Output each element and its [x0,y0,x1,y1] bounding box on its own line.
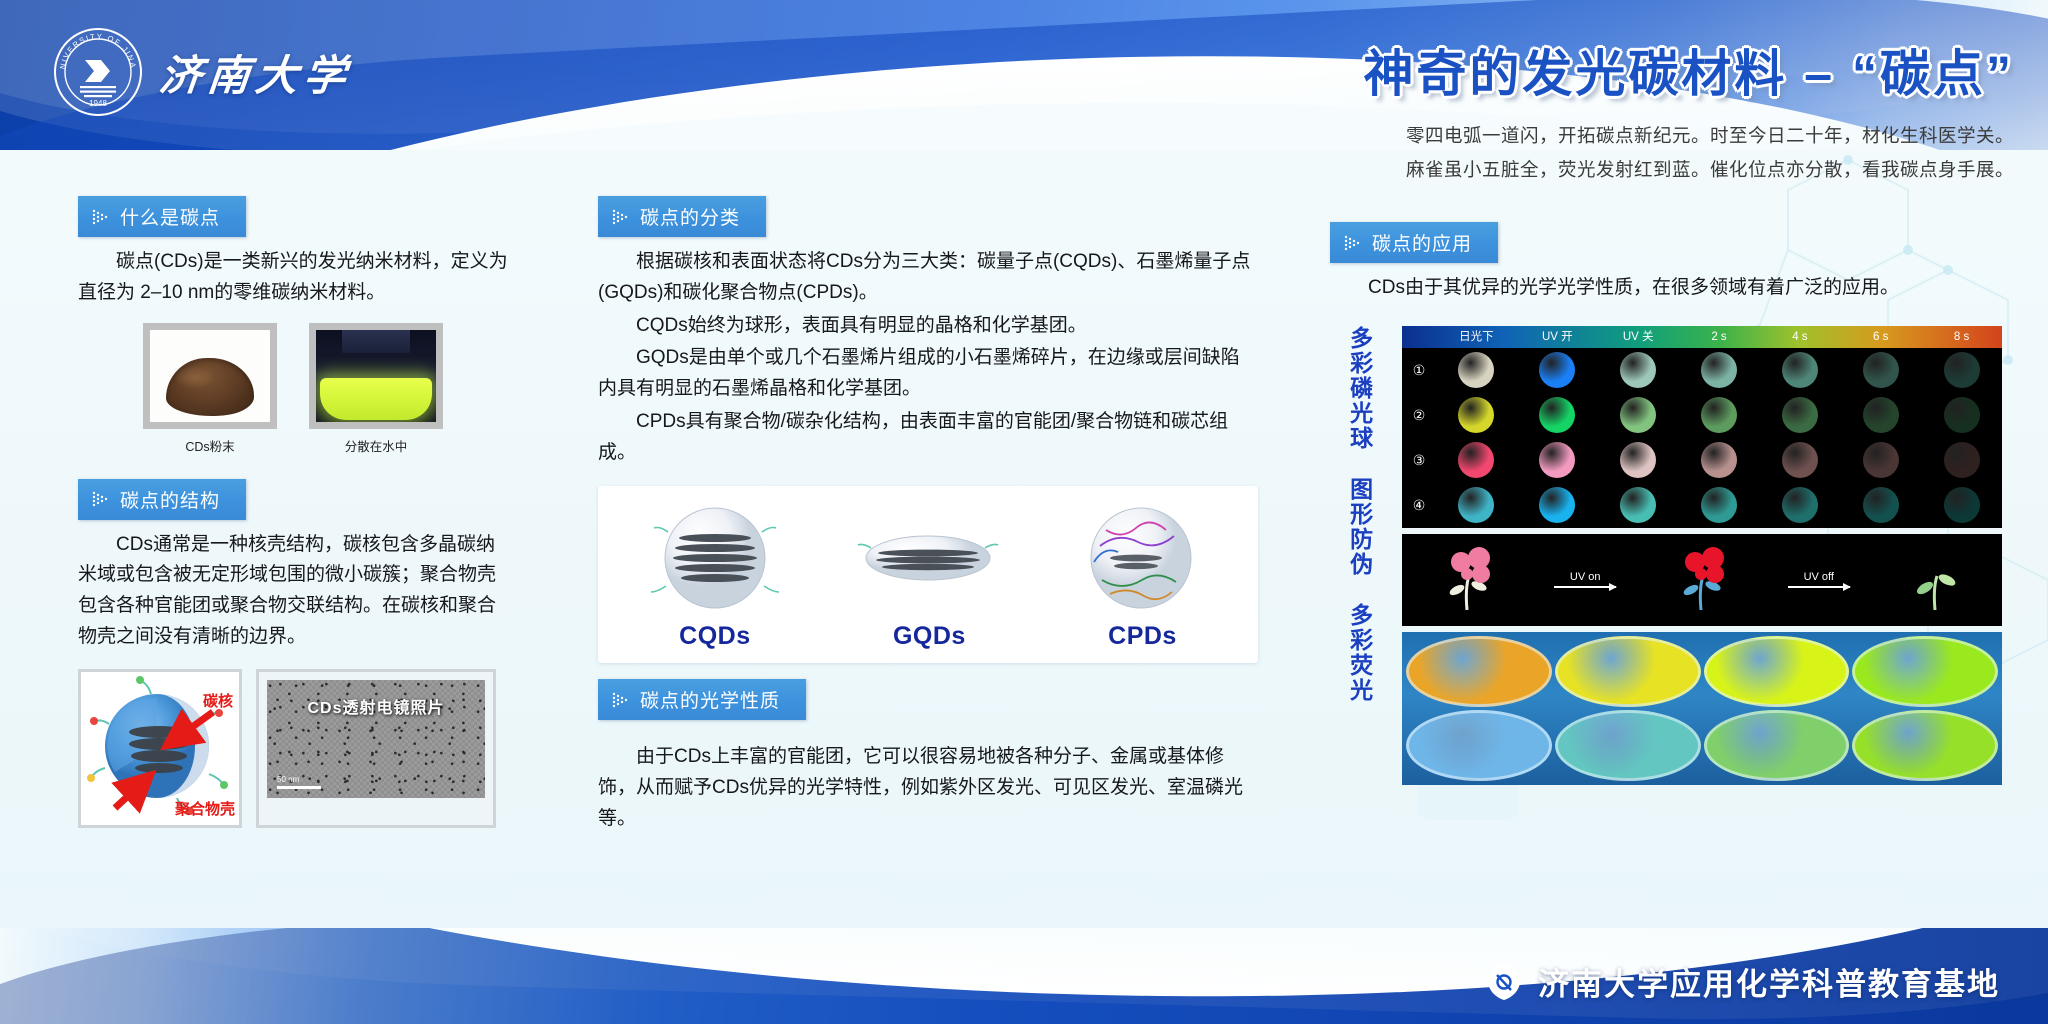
phosphor-ball [1620,487,1656,523]
phosphor-ball [1944,442,1980,478]
grid-col-daylight: 日光下 [1436,326,1517,348]
grid-cell [1921,438,2002,483]
photo-card-powder: CDs粉末 [143,323,277,455]
label-carbon-core: 碳核 [203,692,233,710]
fluorescent-dish [1406,636,1552,707]
section-header-optical: 碳点的光学性质 [598,679,806,720]
photo-frame-powder [143,323,277,429]
type-label-cqds: CQDs [679,622,750,651]
grid-cell [1759,348,1840,393]
phosphor-ball [1782,487,1818,523]
footer-banner: 济南大学应用化学科普教育基地 [0,928,2048,1024]
flower-stage-3 [1905,544,1967,616]
application-vertical-labels: 多彩磷光球 图形防伪 多彩荧光 [1330,326,1388,785]
tem-scalebar-label: 50 nm [277,775,299,784]
grid-cell [1436,483,1517,528]
phosphorescence-grid-row: ③ [1402,438,2002,483]
phosphor-ball [1701,487,1737,523]
grid-cell [1921,393,2002,438]
vertical-label-anticounterfeit: 图形防伪 [1345,477,1372,577]
grid-cell [1436,393,1517,438]
photo-frame-dispersion [309,323,443,429]
vertical-label-multicolor-fluorescence: 多彩荧光 [1345,603,1372,703]
phosphorescence-grid-row: ④ [1402,483,2002,528]
footer-logo-icon [1484,962,1524,1002]
poster-root: UNIVERSITY OF JINAN 1948 济南大学 神奇的发光碳材料 –… [0,0,2048,1024]
phosphor-ball [1701,442,1737,478]
section-header-classification: 碳点的分类 [598,196,766,237]
structure-paragraph: CDs通常是一种核壳结构，碳核包含多晶碳纳米域或包含被无定形域包围的微小碳簇；聚… [78,530,508,653]
dotted-arrow-icon [92,208,110,226]
anticounterfeit-panel: UV on UV off [1402,534,2002,626]
phosphor-ball [1782,397,1818,433]
grid-cell [1436,348,1517,393]
vertical-label-phosphor-balls: 多彩磷光球 [1345,326,1372,451]
grid-cell [1840,438,1921,483]
cds-powder-image [150,330,270,422]
phosphor-ball [1863,442,1899,478]
section-header-application: 碳点的应用 [1330,222,1498,263]
flower-icon [1905,544,1967,616]
phosphor-ball [1701,352,1737,388]
tem-image: CDs透射电镜照片 50 nm [267,680,485,798]
phosphor-ball [1782,352,1818,388]
fluorescent-dish [1852,710,1998,781]
grid-cell [1679,348,1760,393]
phosphor-ball [1944,397,1980,433]
flower-icon [1671,544,1733,616]
grid-cell [1921,348,2002,393]
grid-cell [1436,438,1517,483]
footer-brand: 济南大学应用化学科普教育基地 [1484,959,2000,1004]
grid-cell [1921,483,2002,528]
fluorescent-dish [1704,710,1850,781]
phosphor-ball [1458,487,1494,523]
phosphorescence-grid: 日光下 UV 开 UV 关 2 s 4 s 6 s 8 s ①②③④ [1402,326,2002,528]
phosphor-ball [1539,397,1575,433]
left-column: 什么是碳点 碳点(CDs)是一类新兴的发光纳米材料，定义为直径为 2–10 nm… [78,196,508,828]
footer-brand-text: 济南大学应用化学科普教育基地 [1538,959,2000,1004]
phosphor-ball [1620,442,1656,478]
section-header-structure: 碳点的结构 [78,479,246,520]
page-title: 神奇的发光碳材料 – “碳点” [1004,34,2014,106]
grid-col-6s: 6 s [1840,326,1921,348]
flower-stage-2 [1671,544,1733,616]
phosphor-ball [1458,442,1494,478]
phosphor-ball [1620,352,1656,388]
photo-caption-dispersion: 分散在水中 [309,436,443,455]
grid-row-number: ③ [1402,438,1436,483]
phosphor-ball [1458,397,1494,433]
subtitle-line-2: 麻雀虽小五脏全，荧光发射红到蓝。催化位点亦分散，看我碳点身手展。 [1004,154,2014,186]
tem-image-label: CDs透射电镜照片 [267,694,485,718]
svg-text:1948: 1948 [89,99,107,108]
cds-type-labels: CQDs GQDs CPDs [608,622,1248,651]
application-image-stack: 日光下 UV 开 UV 关 2 s 4 s 6 s 8 s ①②③④ [1402,326,2002,785]
application-figures: 多彩磷光球 图形防伪 多彩荧光 日光下 UV 开 UV 关 2 s 4 s [1330,326,2002,785]
grid-row-number: ② [1402,393,1436,438]
right-column: 碳点的应用 CDs由于其优异的光学光学性质，在很多领域有着广泛的应用。 多彩磷光… [1330,222,2002,785]
cds-dispersion-image [316,330,436,422]
phosphor-ball [1944,487,1980,523]
fluorescent-dish [1406,710,1552,781]
middle-column: 碳点的分类 根据碳核和表面状态将CDs分为三大类：碳量子点(CQDs)、石墨烯量… [598,196,1258,835]
flower-icon [1437,544,1499,616]
core-shell-diagram-box: 碳核 聚合物壳 [78,669,242,828]
phosphorescence-grid-header: 日光下 UV 开 UV 关 2 s 4 s 6 s 8 s [1402,326,2002,348]
subtitle-line-1: 零四电弧一道闪，开拓碳点新纪元。时至今日二十年，材化生科医学关。 [1004,120,2014,152]
grid-cell [1679,438,1760,483]
grid-col-uv-on: UV 开 [1517,326,1598,348]
phosphor-ball [1701,397,1737,433]
university-seal-icon: UNIVERSITY OF JINAN 1948 [52,26,144,118]
grid-cell [1598,438,1679,483]
flower-stage-1 [1437,544,1499,616]
tem-scalebar: 50 nm [277,775,321,789]
phosphor-ball [1782,442,1818,478]
optical-paragraph: 由于CDs上丰富的官能团，它可以很容易地被各种分子、金属或基体修饰，从而赋予CD… [598,742,1258,834]
photo-caption-powder: CDs粉末 [143,436,277,455]
grid-cell [1517,483,1598,528]
grid-col-8s: 8 s [1921,326,2002,348]
structure-figure-row: 碳核 聚合物壳 CDs透射电镜照片 50 nm [78,669,508,828]
dotted-arrow-icon [1344,234,1362,252]
phosphor-ball [1539,442,1575,478]
fluorescent-dish [1555,636,1701,707]
phosphor-ball [1863,352,1899,388]
phosphor-ball [1539,487,1575,523]
grid-row-number: ① [1402,348,1436,393]
university-wordmark: 济南大学 [157,42,355,103]
grid-cell [1598,348,1679,393]
section-header-label: 什么是碳点 [120,203,220,230]
phosphor-ball [1863,487,1899,523]
grid-row-number: ④ [1402,483,1436,528]
photo-card-dispersion: 分散在水中 [309,323,443,455]
classification-paragraph-1: 根据碳核和表面状态将CDs分为三大类：碳量子点(CQDs)、石墨烯量子点(GQD… [598,247,1258,309]
tem-image-box: CDs透射电镜照片 50 nm [256,669,496,828]
fluorescent-dish [1704,636,1850,707]
type-label-gqds: GQDs [893,622,966,651]
grid-cell [1840,393,1921,438]
classification-paragraph-4: CPDs具有聚合物/碳杂化结构，由表面丰富的官能团/聚合物链和碳芯组成。 [598,407,1258,469]
cds-photo-row: CDs粉末 分散在水中 [78,323,508,455]
uv-on-arrow: UV on [1554,571,1616,588]
dotted-arrow-icon [612,691,630,709]
section-header-label: 碳点的结构 [120,486,220,513]
gqds-illustration [853,502,1003,614]
application-paragraph: CDs由于其优异的光学光学性质，在很多领域有着广泛的应用。 [1330,273,2002,304]
section-header-label: 碳点的应用 [1372,229,1472,256]
grid-col-uv-off: UV 关 [1598,326,1679,348]
grid-cell [1679,483,1760,528]
grid-cell [1598,393,1679,438]
uv-on-label: UV on [1570,571,1601,583]
section-header-label: 碳点的分类 [640,203,740,230]
phosphor-ball [1539,352,1575,388]
core-shell-diagram: 碳核 聚合物壳 [85,676,235,816]
grid-col-2s: 2 s [1679,326,1760,348]
university-logo: UNIVERSITY OF JINAN 1948 济南大学 [52,26,352,118]
grid-cell [1517,348,1598,393]
title-block: 神奇的发光碳材料 – “碳点” 零四电弧一道闪，开拓碳点新纪元。时至今日二十年，… [1004,34,2014,186]
classification-paragraph-2: CQDs始终为球形，表面具有明显的晶格和化学基团。 [598,311,1258,342]
fluorescent-dish-panel [1402,632,2002,785]
grid-cell [1517,393,1598,438]
fluorescent-dish [1852,636,1998,707]
cqds-illustration [640,502,790,614]
fluorescent-dish [1555,710,1701,781]
grid-cell [1759,438,1840,483]
classification-paragraph-3: GQDs是由单个或几个石墨烯片组成的小石墨烯碎片，在边缘或层间缺陷内具有明显的石… [598,343,1258,405]
phosphorescence-grid-row: ① [1402,348,2002,393]
grid-cell [1517,438,1598,483]
cds-types-illustrations [608,502,1248,614]
dotted-arrow-icon [612,208,630,226]
grid-cell [1759,393,1840,438]
uv-off-arrow: UV off [1788,571,1850,588]
cds-types-panel: CQDs GQDs CPDs [598,486,1258,663]
type-label-cpds: CPDs [1108,622,1177,651]
section-header-what-is-cds: 什么是碳点 [78,196,246,237]
uv-off-label: UV off [1804,571,1834,583]
phosphor-ball [1863,397,1899,433]
what-is-cds-paragraph: 碳点(CDs)是一类新兴的发光纳米材料，定义为直径为 2–10 nm的零维碳纳米… [78,247,508,309]
grid-cell [1598,483,1679,528]
grid-col-4s: 4 s [1759,326,1840,348]
cpds-illustration [1066,502,1216,614]
grid-cell [1840,483,1921,528]
dotted-arrow-icon [92,490,110,508]
grid-cell [1679,393,1760,438]
phosphorescence-grid-row: ② [1402,393,2002,438]
phosphor-ball [1458,352,1494,388]
phosphor-ball [1944,352,1980,388]
grid-cell [1840,348,1921,393]
label-polymer-shell: 聚合物壳 [174,800,235,816]
section-header-label: 碳点的光学性质 [640,686,780,713]
grid-cell [1759,483,1840,528]
phosphor-ball [1620,397,1656,433]
phosphorescence-grid-body: ①②③④ [1402,348,2002,528]
